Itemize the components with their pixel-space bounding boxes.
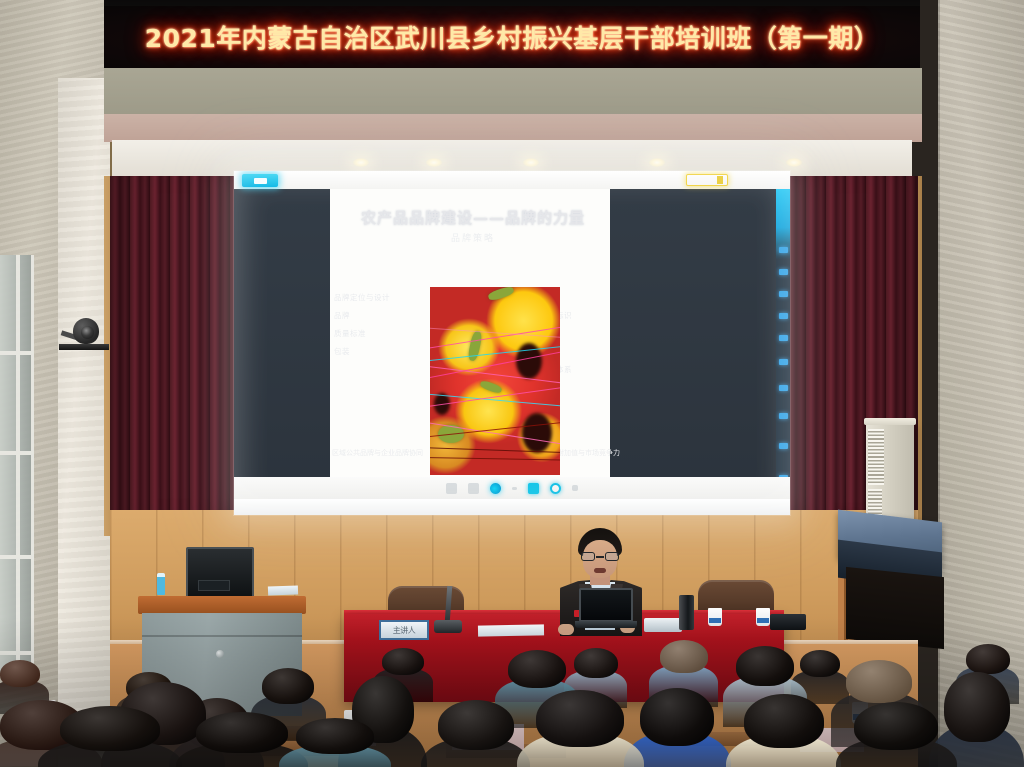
highlight-marker-badge[interactable] bbox=[686, 174, 728, 186]
event-banner: 2021年内蒙古自治区武川县乡村振兴基层干部培训班（第一期） bbox=[104, 6, 920, 68]
file-explorer-icon[interactable] bbox=[528, 483, 539, 494]
photo-scene: 2021年内蒙古自治区武川县乡村振兴基层干部培训班（第一期） 农产品品牌 bbox=[0, 0, 1024, 767]
dark-device bbox=[770, 614, 806, 630]
audience-member bbox=[660, 640, 708, 684]
audience-head bbox=[536, 690, 624, 747]
speaker-laptop bbox=[575, 588, 637, 630]
slide-surface: 农产品品牌建设——品牌的力量 品牌策略 品牌定位与设计 品牌 质量标准 包装 一… bbox=[234, 171, 790, 515]
name-placard-text: 主讲人 bbox=[393, 625, 416, 636]
podium-paper-sheet bbox=[268, 585, 298, 595]
audience-member bbox=[60, 706, 160, 767]
slide-left-item: 质量标准 bbox=[334, 325, 412, 343]
audience-member bbox=[854, 702, 938, 767]
audience-head bbox=[296, 718, 374, 754]
audience-member bbox=[296, 718, 374, 767]
audience-head bbox=[60, 706, 160, 751]
covered-piano bbox=[838, 516, 948, 644]
serving-tray bbox=[644, 618, 682, 632]
ptz-camera-icon bbox=[59, 318, 109, 358]
slide-left-item: 品牌 bbox=[334, 307, 412, 325]
ceiling-downlight bbox=[649, 158, 665, 167]
slide-subtitle: 品牌策略 bbox=[338, 231, 608, 244]
projection-screen: 农产品品牌建设——品牌的力量 品牌策略 品牌定位与设计 品牌 质量标准 包装 一… bbox=[234, 171, 790, 515]
hand-sanitizer-bottle bbox=[157, 573, 165, 595]
paper-cup bbox=[756, 608, 770, 626]
audience-head bbox=[846, 660, 912, 703]
window-thumbnail-badge[interactable] bbox=[242, 174, 278, 187]
audience-head bbox=[574, 648, 618, 678]
left-pillar bbox=[58, 78, 110, 767]
desktop-letterbox-right bbox=[610, 189, 776, 481]
audience-head bbox=[508, 650, 566, 688]
slide-title: 农产品品牌建设——品牌的力量 bbox=[338, 207, 608, 228]
audience-member bbox=[640, 688, 714, 767]
audience-head bbox=[438, 700, 514, 750]
edge-icon[interactable] bbox=[490, 483, 501, 494]
divider-icon bbox=[512, 487, 517, 490]
slide-pepper-photo bbox=[430, 287, 560, 475]
audience-head bbox=[262, 668, 314, 704]
paper-documents bbox=[478, 624, 544, 636]
audience-member bbox=[800, 650, 840, 686]
audience-head bbox=[800, 650, 840, 677]
podium-monitor bbox=[186, 547, 254, 599]
audience-head bbox=[966, 644, 1010, 674]
slide-left-item: 品牌定位与设计 bbox=[334, 289, 412, 307]
audience-member bbox=[262, 668, 314, 716]
air-conditioner bbox=[866, 423, 914, 528]
audience-member bbox=[744, 694, 824, 767]
soffit-upper-band bbox=[104, 68, 922, 116]
slide-left-item: 包装 bbox=[334, 343, 412, 361]
audience-head bbox=[744, 694, 824, 748]
audience-head bbox=[736, 646, 794, 686]
ceiling-downlight bbox=[786, 158, 802, 167]
audience-member bbox=[536, 690, 624, 767]
audience-member bbox=[0, 660, 40, 696]
tray-icon[interactable] bbox=[572, 485, 578, 491]
audience-member bbox=[574, 648, 618, 688]
audience-member bbox=[196, 712, 288, 767]
audience-head bbox=[854, 702, 938, 750]
desktop-letterbox-left bbox=[234, 189, 330, 481]
windows-taskbar[interactable] bbox=[234, 477, 790, 499]
thermos-flask bbox=[679, 595, 694, 630]
name-placard: 主讲人 bbox=[379, 620, 429, 640]
audience-head bbox=[660, 640, 708, 673]
audience-head bbox=[382, 648, 424, 675]
microphone-base bbox=[434, 620, 462, 633]
slide-footnote-left: 区域公共品牌与企业品牌协同 bbox=[332, 448, 432, 459]
audience-head bbox=[640, 688, 714, 746]
audience-head bbox=[0, 660, 40, 687]
start-icon[interactable] bbox=[446, 483, 457, 494]
audience-member bbox=[438, 700, 514, 767]
ceiling-downlight bbox=[426, 158, 442, 167]
left-window-panel bbox=[0, 255, 34, 675]
banner-title: 2021年内蒙古自治区武川县乡村振兴基层干部培训班（第一期） bbox=[145, 19, 880, 55]
audience-head bbox=[944, 672, 1010, 742]
ceiling-downlight bbox=[353, 158, 369, 167]
slide-bottom-band bbox=[234, 499, 790, 515]
audience-head bbox=[196, 712, 288, 753]
slide-top-ribbon bbox=[234, 171, 790, 189]
paper-cup bbox=[708, 608, 722, 626]
ceiling-downlight bbox=[523, 158, 539, 167]
slide-left-column: 品牌定位与设计 品牌 质量标准 包装 bbox=[334, 289, 412, 361]
lectern-lock-icon bbox=[216, 650, 224, 658]
audience-member bbox=[944, 672, 1010, 767]
search-icon[interactable] bbox=[468, 483, 479, 494]
media-player-icon[interactable] bbox=[550, 483, 561, 494]
soffit-lower-band bbox=[104, 114, 922, 142]
eyeglasses-icon bbox=[581, 552, 619, 561]
audience-member bbox=[736, 646, 794, 700]
slide-side-rail[interactable] bbox=[776, 189, 790, 509]
